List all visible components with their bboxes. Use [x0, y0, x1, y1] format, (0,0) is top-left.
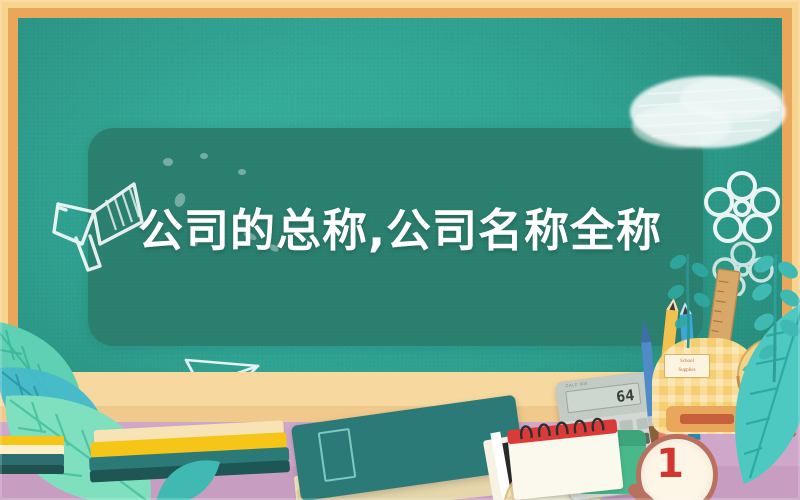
- leaf-branch-right-2: [660, 248, 730, 358]
- spiral-notepad: [506, 414, 633, 500]
- leaf-small-teal: [150, 452, 230, 500]
- banner-illustration: 公司的总称,公司名称全称: [0, 0, 800, 500]
- book-stack-left: [0, 436, 74, 476]
- leaf-branch-right: [744, 250, 800, 390]
